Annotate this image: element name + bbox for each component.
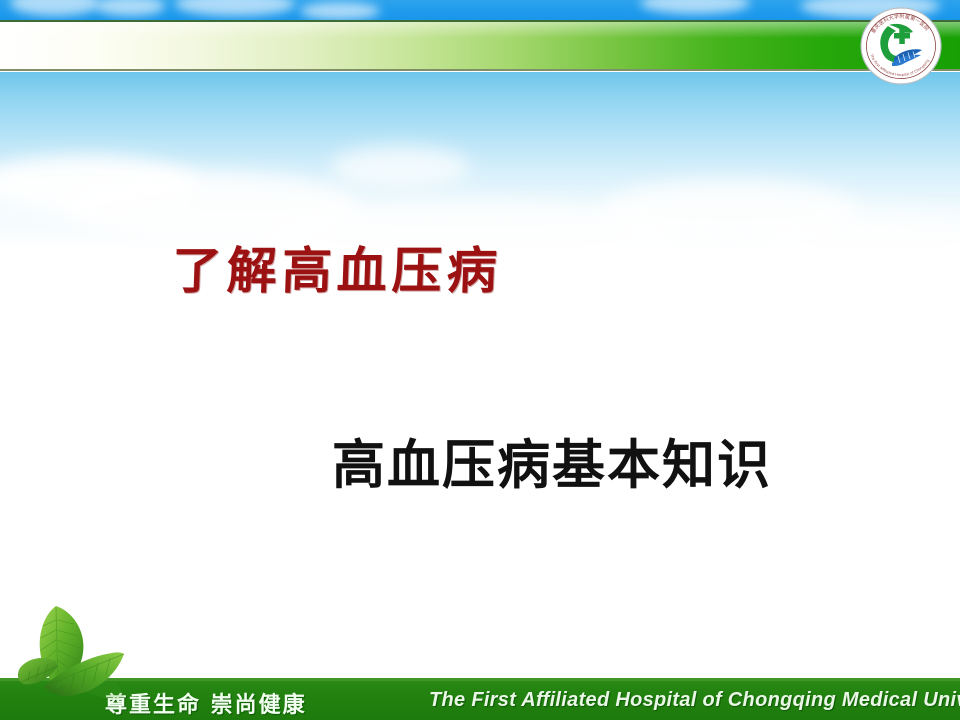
hospital-logo-icon: 重庆医科大学附属第一医院 The First Affiliated Hospit… <box>858 6 944 86</box>
header-bar-sheen <box>0 22 960 38</box>
cloud-decoration <box>640 0 750 14</box>
top-sky-strip <box>0 0 960 20</box>
footer-bar-highlight <box>0 678 960 681</box>
cloud-decoration <box>300 2 380 20</box>
cloud-decoration <box>175 0 295 16</box>
sky-background <box>0 72 960 252</box>
leaf-icon <box>12 596 138 720</box>
presentation-slide: 重庆医科大学附属第一医院 The First Affiliated Hospit… <box>0 0 960 720</box>
footer-institution-name: The First Affiliated Hospital of Chongqi… <box>429 689 960 712</box>
slide-title: 了解高血压病 <box>171 231 504 303</box>
slide-subtitle: 高血压病基本知识 <box>332 423 772 499</box>
cloud-decoration <box>330 146 470 188</box>
header-rule-bottom-highlight <box>0 71 960 72</box>
cloud-decoration <box>10 0 100 16</box>
cloud-decoration <box>95 0 165 16</box>
cloud-decoration <box>760 212 960 272</box>
